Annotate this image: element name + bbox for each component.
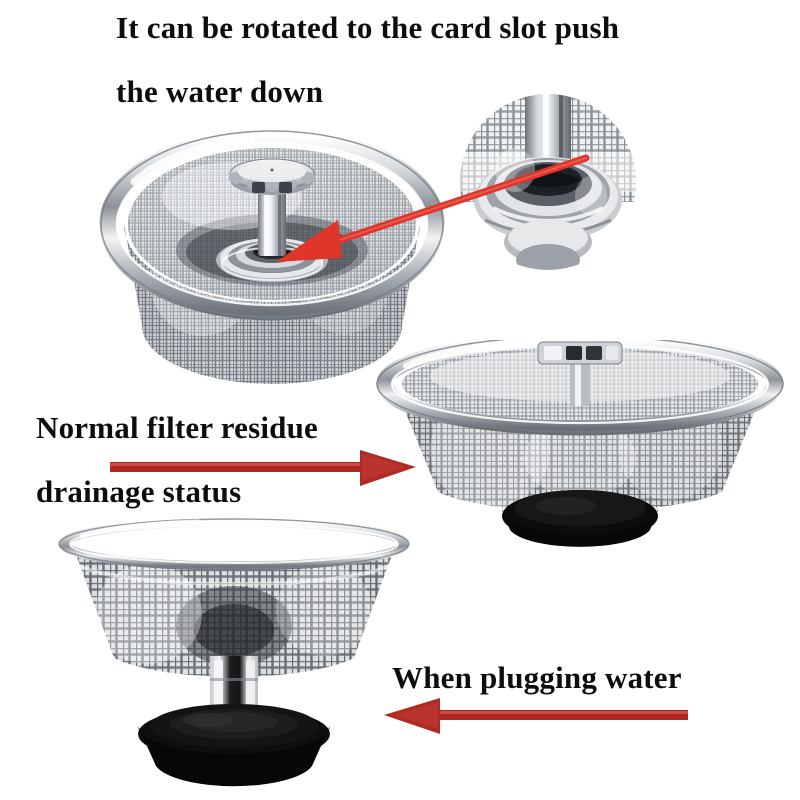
inset-content — [455, 92, 641, 278]
infographic-canvas: It can be rotated to the card slot push … — [0, 0, 800, 800]
caption-top-line1: It can be rotated to the card slot push — [116, 12, 619, 43]
caption-top-line2: the water down — [116, 76, 323, 107]
caption-middle-line1: Normal filter residue — [36, 412, 318, 443]
drain-rubber-stopper — [502, 490, 658, 547]
strainer-drainage-position — [370, 340, 790, 555]
arrow-to-plugging-basket — [380, 694, 690, 740]
strainer-plugging-position — [58, 518, 410, 788]
plug-rubber-stopper — [138, 704, 330, 786]
caption-middle-line2: drainage status — [36, 476, 241, 507]
plug-basket-rim — [59, 519, 409, 569]
detail-inset-card-slot — [455, 92, 641, 278]
drain-basket-knob — [538, 342, 622, 364]
caption-bottom-line1: When plugging water — [392, 662, 682, 693]
strainer-knob — [229, 159, 315, 195]
